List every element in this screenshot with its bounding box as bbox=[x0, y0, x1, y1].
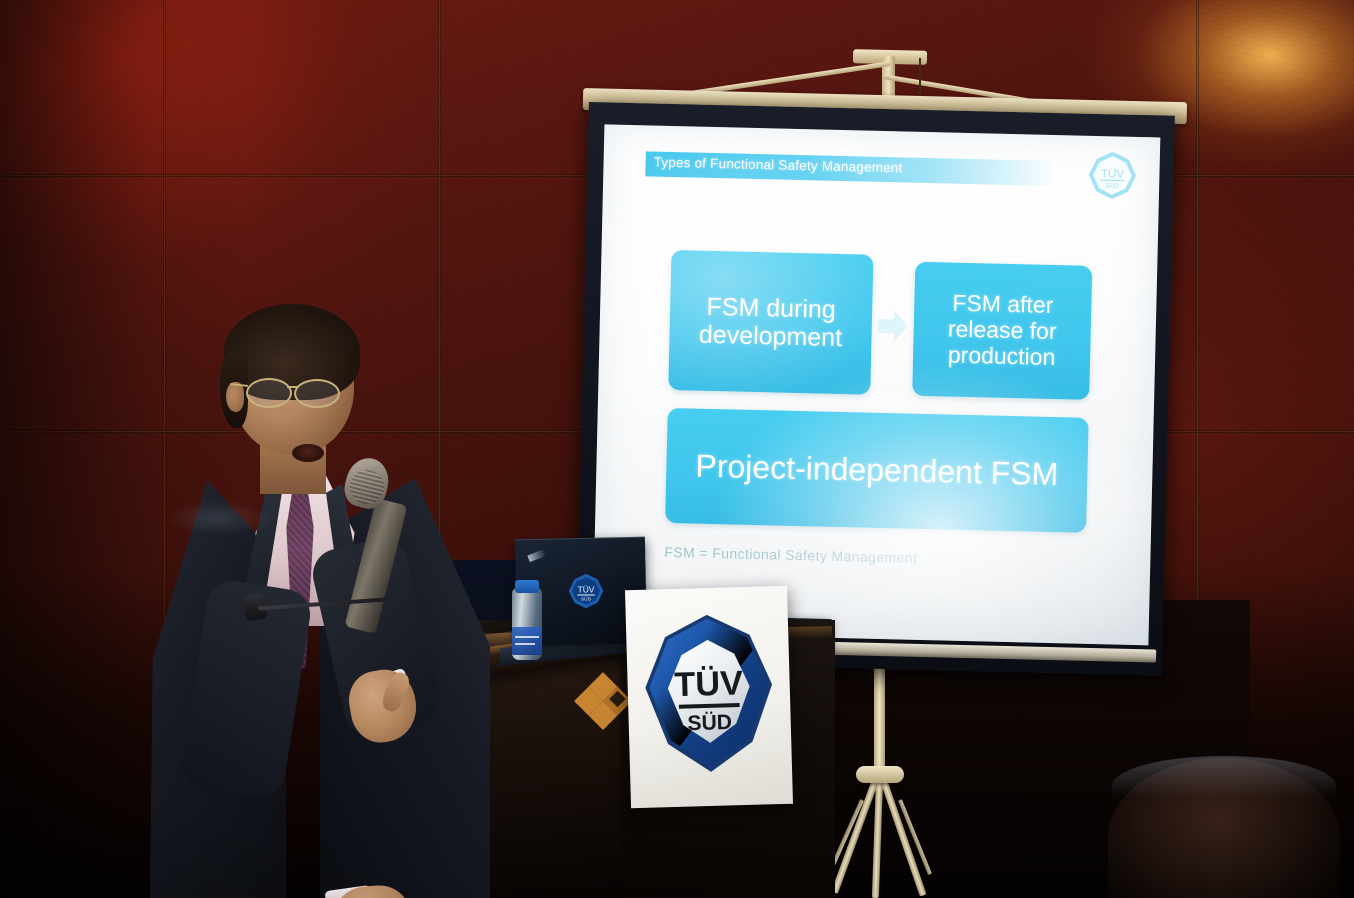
tuv-sud-placard: TÜV SÜD bbox=[625, 586, 793, 808]
placard-logo-bottom: SÜD bbox=[687, 711, 732, 735]
tripod-hub bbox=[856, 766, 904, 783]
audience-rim-light bbox=[1112, 756, 1336, 816]
tuv-logo-top: TÜV bbox=[1101, 168, 1125, 181]
right-arrow-icon bbox=[875, 307, 910, 346]
mouth bbox=[292, 444, 324, 462]
hotel-diamond-emblem-icon bbox=[572, 668, 634, 730]
slide-box-fsm-after-release: FSM after release for production bbox=[912, 262, 1092, 400]
slide-box-project-independent-fsm: Project-independent FSM bbox=[665, 408, 1089, 533]
eyeglasses-bridge bbox=[287, 386, 297, 388]
eyeglasses-lens-left bbox=[246, 378, 292, 408]
tuv-sud-logo-icon: TÜV SÜD bbox=[1087, 152, 1138, 209]
tuv-logo-bottom: SÜD bbox=[1105, 182, 1119, 190]
slide-box-fsm-during-development: FSM during development bbox=[668, 250, 873, 395]
projected-slide: Types of Functional Safety Management TÜ… bbox=[593, 124, 1161, 645]
ear bbox=[226, 382, 244, 412]
tripod-post bbox=[874, 655, 885, 773]
bottle-cap bbox=[515, 580, 539, 593]
bottle-label bbox=[512, 627, 542, 655]
shoulder-highlight bbox=[164, 500, 274, 536]
projection-screen: Types of Functional Safety Management TÜ… bbox=[583, 88, 1187, 663]
tuv-sud-logo-icon: TÜV SÜD bbox=[641, 608, 778, 780]
slide-footnote: FSM = Functional Safety Management bbox=[664, 544, 917, 566]
laptop-tuv-sud-sticker-icon: TÜV SÜD bbox=[566, 572, 606, 618]
presenter bbox=[150, 300, 490, 898]
eyeglasses-lens-right bbox=[294, 379, 340, 408]
bottle-label-line bbox=[515, 643, 535, 645]
presentation-room-photo: Types of Functional Safety Management TÜ… bbox=[0, 0, 1354, 898]
svg-text:TÜV: TÜV bbox=[578, 585, 595, 595]
placard-logo-top: TÜV bbox=[674, 663, 744, 704]
bottle-label-line bbox=[515, 636, 539, 638]
